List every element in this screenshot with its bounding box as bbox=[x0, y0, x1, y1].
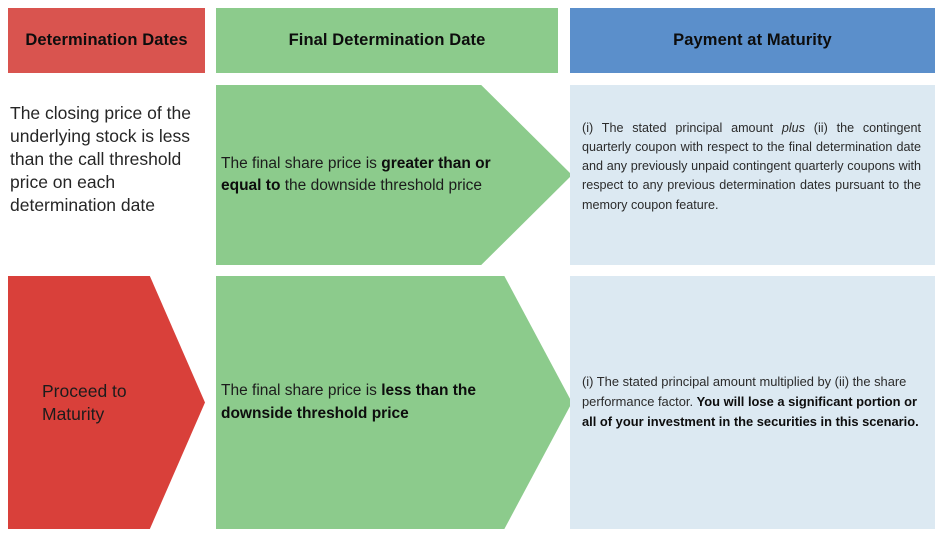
header-final-determination-date: Final Determination Date bbox=[216, 8, 558, 73]
row-2-condition-label: Proceed to Maturity bbox=[8, 380, 162, 426]
row-2-final-determination-chevron: The final share price is less than the d… bbox=[216, 276, 572, 529]
row-2-payment-box: (i) The stated principal amount multipli… bbox=[570, 276, 935, 529]
header-final-determination-date-label: Final Determination Date bbox=[289, 31, 486, 50]
row-1-final-determination-text: The final share price is greater than or… bbox=[221, 153, 511, 197]
row-1-condition-label: The closing price of the underlying stoc… bbox=[10, 103, 191, 215]
row-2-payment-text: (i) The stated principal amount multipli… bbox=[582, 372, 921, 432]
row-2-final-determination-text: The final share price is less than the d… bbox=[221, 380, 516, 425]
payoff-scenario-diagram: Determination Dates Final Determination … bbox=[0, 0, 942, 539]
row-2-proceed-to-maturity-arrow: Proceed to Maturity bbox=[8, 276, 205, 529]
row-1-condition-text: The closing price of the underlying stoc… bbox=[10, 102, 210, 217]
header-determination-dates: Determination Dates bbox=[8, 8, 205, 73]
header-payment-at-maturity: Payment at Maturity bbox=[570, 8, 935, 73]
header-payment-at-maturity-label: Payment at Maturity bbox=[673, 31, 832, 50]
row-1-payment-text: (i) The stated principal amount plus (ii… bbox=[582, 119, 921, 215]
row-1-payment-box: (i) The stated principal amount plus (ii… bbox=[570, 85, 935, 265]
row-1-final-determination-chevron: The final share price is greater than or… bbox=[216, 85, 572, 265]
header-determination-dates-label: Determination Dates bbox=[25, 31, 187, 50]
